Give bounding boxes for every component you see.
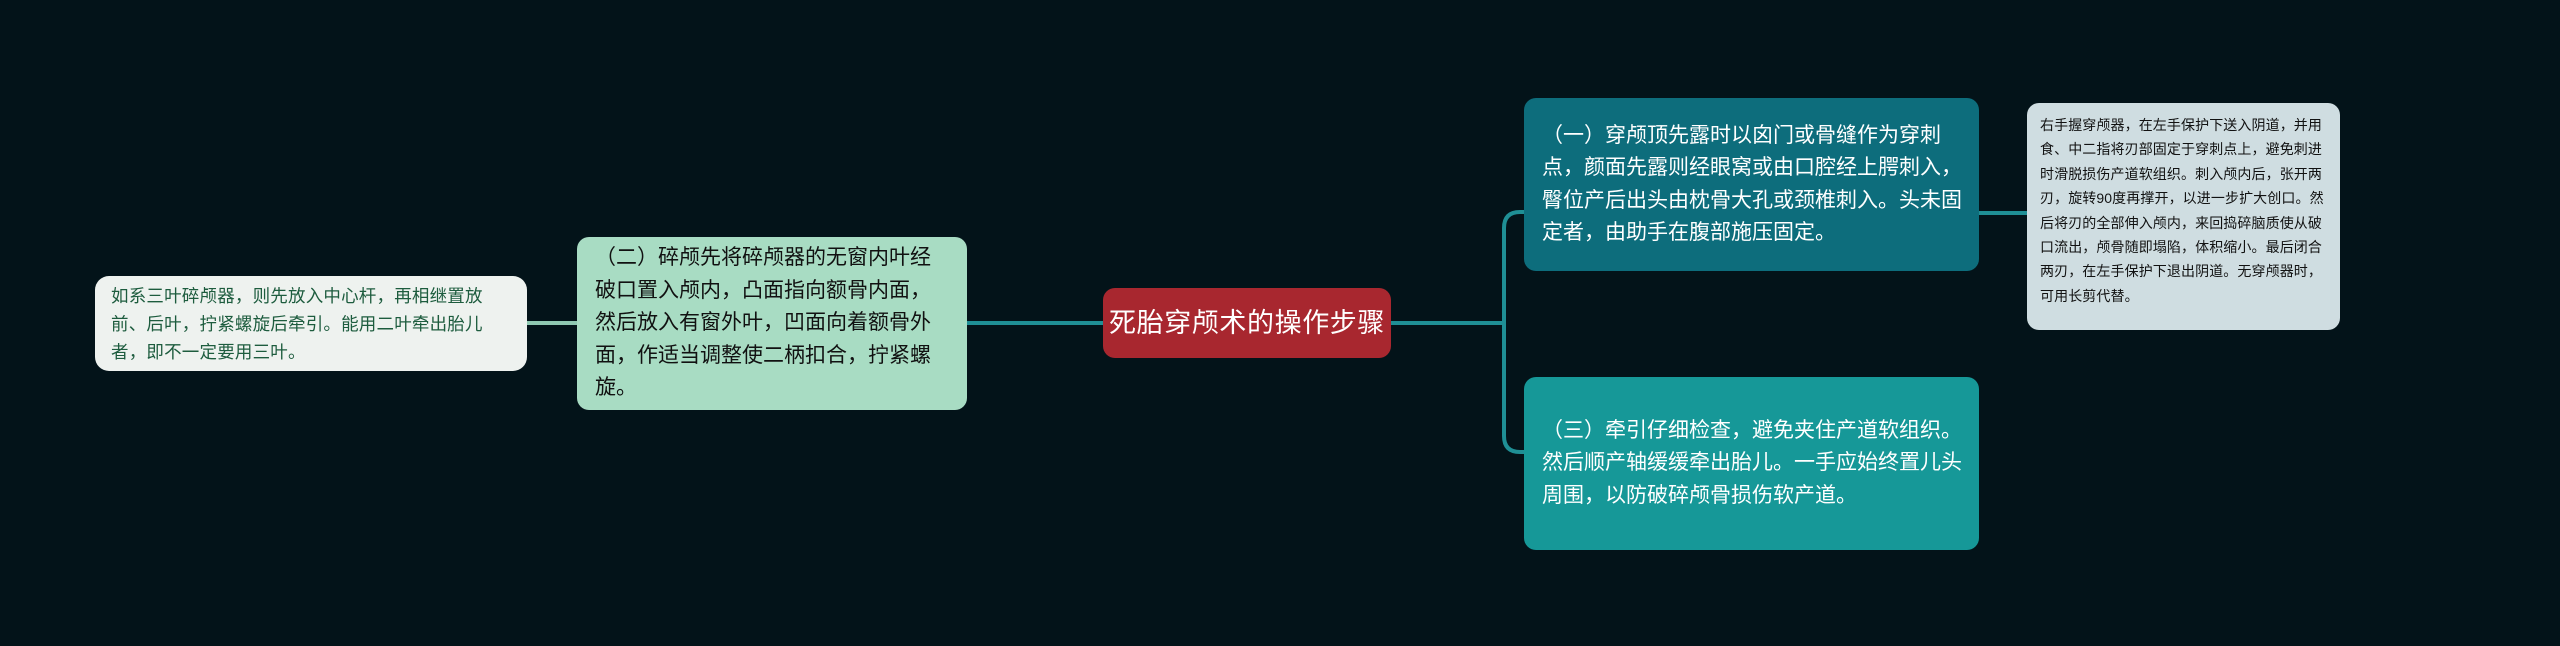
node-branch-one-text: （一）穿颅顶先露时以囟门或骨缝作为穿刺点，颜面先露则经眼窝或由口腔经上腭刺入，臀… [1542, 120, 1963, 250]
node-branch-two[interactable]: （二）碎颅先将碎颅器的无窗内叶经破口置入颅内，凸面指向额骨内面，然后放入有窗外叶… [577, 237, 967, 410]
node-right-leaf-text: 右手握穿颅器，在左手保护下送入阴道，并用食、中二指将刃部固定于穿刺点上，避免刺进… [2040, 113, 2328, 308]
connector-bracket-to-teal3 [1504, 323, 1524, 452]
node-branch-one[interactable]: （一）穿颅顶先露时以囟门或骨缝作为穿刺点，颜面先露则经眼窝或由口腔经上腭刺入，臀… [1524, 98, 1979, 271]
node-branch-two-text: （二）碎颅先将碎颅器的无窗内叶经破口置入颅内，凸面指向额骨内面，然后放入有窗外叶… [595, 242, 951, 405]
node-left-leaf-text: 如系三叶碎颅器，则先放入中心杆，再相继置放前、后叶，拧紧螺旋后牵引。能用二叶牵出… [111, 282, 513, 366]
root-title-text: 死胎穿颅术的操作步骤 [1103, 306, 1391, 340]
mindmap-canvas: 如系三叶碎颅器，则先放入中心杆，再相继置放前、后叶，拧紧螺旋后牵引。能用二叶牵出… [0, 0, 2560, 646]
connector-bracket-to-teal1 [1504, 212, 1524, 323]
node-branch-three[interactable]: （三）牵引仔细检查，避免夹住产道软组织。然后顺产轴缓缓牵出胎儿。一手应始终置儿头… [1524, 377, 1979, 550]
node-root-title[interactable]: 死胎穿颅术的操作步骤 [1103, 288, 1391, 358]
node-branch-three-text: （三）牵引仔细检查，避免夹住产道软组织。然后顺产轴缓缓牵出胎儿。一手应始终置儿头… [1542, 415, 1963, 513]
node-right-leaf[interactable]: 右手握穿颅器，在左手保护下送入阴道，并用食、中二指将刃部固定于穿刺点上，避免刺进… [2027, 103, 2340, 330]
node-left-leaf[interactable]: 如系三叶碎颅器，则先放入中心杆，再相继置放前、后叶，拧紧螺旋后牵引。能用二叶牵出… [95, 276, 527, 371]
